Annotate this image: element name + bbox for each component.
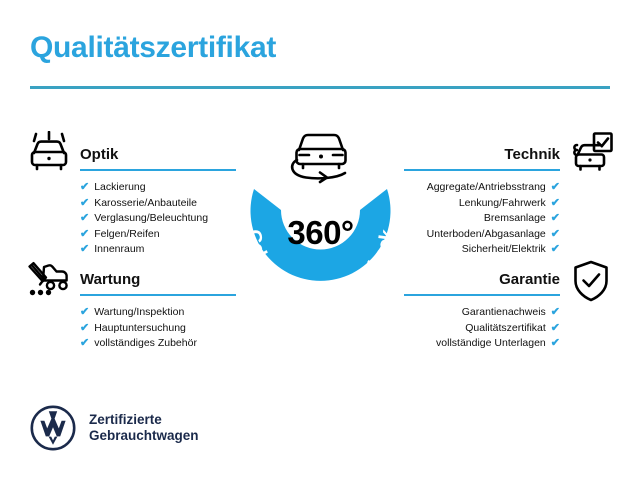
check-icon: ✔	[551, 196, 560, 212]
list-item-label: Garantienachweis	[462, 305, 546, 321]
list-item: ✔Karosserie/Anbauteile	[80, 196, 236, 212]
list-item-label: Karosserie/Anbauteile	[94, 196, 197, 212]
check-icon: ✔	[80, 336, 89, 352]
check-icon: ✔	[551, 227, 560, 243]
list-item: ✔vollständiges Zubehör	[80, 336, 236, 352]
list-item-label: Unterboden/Abgasanlage	[427, 227, 546, 243]
section-optik-header: Optik	[80, 145, 236, 171]
check-icon: ✔	[80, 211, 89, 227]
section-garantie-divider	[404, 294, 560, 296]
check-icon: ✔	[80, 180, 89, 196]
list-item-label: Bremsanlage	[484, 211, 546, 227]
list-item: Bremsanlage✔	[404, 211, 560, 227]
list-item-label: Hauptuntersuchung	[94, 321, 186, 337]
list-item: ✔Wartung/Inspektion	[80, 305, 236, 321]
list-item: ✔Felgen/Reifen	[80, 227, 236, 243]
list-item-label: Felgen/Reifen	[94, 227, 159, 243]
qualitaetszertifikat-page: Qualitätszertifikat Optik ✔Lackierung ✔K…	[0, 0, 640, 480]
footer-text: Zertifizierte Gebrauchtwagen	[89, 412, 199, 444]
list-item: Lenkung/Fahrwerk✔	[404, 196, 560, 212]
car-checkbox-icon	[568, 131, 614, 175]
gebrauchtwagen-check-badge: Gebrauchtwagen-Check 360°	[227, 128, 414, 323]
car-service-tool-icon	[26, 259, 72, 303]
list-item-label: vollständiges Zubehör	[94, 336, 197, 352]
section-technik: Technik Aggregate/Antriebsstrang✔ Lenkun…	[404, 145, 560, 258]
list-item-label: vollständige Unterlagen	[436, 336, 546, 352]
section-garantie-title: Garantie	[404, 270, 560, 290]
volkswagen-logo	[30, 405, 76, 451]
section-wartung: Wartung ✔Wartung/Inspektion ✔Hauptunters…	[80, 270, 236, 352]
list-item: ✔Lackierung	[80, 180, 236, 196]
list-item-label: Lackierung	[94, 180, 145, 196]
check-icon: ✔	[551, 321, 560, 337]
check-icon: ✔	[80, 227, 89, 243]
section-wartung-header: Wartung	[80, 270, 236, 296]
check-icon: ✔	[551, 242, 560, 258]
list-item: Sicherheit/Elektrik✔	[404, 242, 560, 258]
section-optik: Optik ✔Lackierung ✔Karosserie/Anbauteile…	[80, 145, 236, 258]
section-optik-title: Optik	[80, 145, 236, 165]
shield-check-icon	[571, 259, 611, 303]
list-item-label: Lenkung/Fahrwerk	[459, 196, 546, 212]
list-item: vollständige Unterlagen✔	[404, 336, 560, 352]
check-icon: ✔	[80, 321, 89, 337]
list-item: ✔Verglasung/Beleuchtung	[80, 211, 236, 227]
check-icon: ✔	[551, 336, 560, 352]
check-icon: ✔	[551, 211, 560, 227]
car-rotation-icon	[279, 128, 363, 184]
section-technik-list: Aggregate/Antriebsstrang✔ Lenkung/Fahrwe…	[404, 180, 560, 258]
check-icon: ✔	[551, 180, 560, 196]
section-garantie-header: Garantie	[404, 270, 560, 296]
section-technik-title: Technik	[404, 145, 560, 165]
section-wartung-list: ✔Wartung/Inspektion ✔Hauptuntersuchung ✔…	[80, 305, 236, 352]
section-technik-header: Technik	[404, 145, 560, 171]
badge-value: 360°	[227, 214, 414, 252]
check-icon: ✔	[80, 305, 89, 321]
section-wartung-divider	[80, 294, 236, 296]
list-item: ✔Hauptuntersuchung	[80, 321, 236, 337]
list-item-label: Sicherheit/Elektrik	[462, 242, 546, 258]
section-technik-divider	[404, 169, 560, 171]
check-icon: ✔	[80, 242, 89, 258]
list-item: Unterboden/Abgasanlage✔	[404, 227, 560, 243]
section-optik-list: ✔Lackierung ✔Karosserie/Anbauteile ✔Verg…	[80, 180, 236, 258]
page-title: Qualitätszertifikat	[30, 33, 276, 63]
list-item-label: Verglasung/Beleuchtung	[94, 211, 208, 227]
list-item-label: Wartung/Inspektion	[94, 305, 184, 321]
car-front-shine-icon	[26, 131, 72, 175]
check-icon: ✔	[551, 305, 560, 321]
list-item: ✔Innenraum	[80, 242, 236, 258]
list-item: Aggregate/Antriebsstrang✔	[404, 180, 560, 196]
section-wartung-title: Wartung	[80, 270, 236, 290]
section-garantie-list: Garantienachweis✔ Qualitätszertifikat✔ v…	[404, 305, 560, 352]
section-optik-divider	[80, 169, 236, 171]
list-item-label: Qualitätszertifikat	[465, 321, 546, 337]
title-divider	[30, 86, 610, 89]
list-item-label: Innenraum	[94, 242, 144, 258]
check-icon: ✔	[80, 196, 89, 212]
section-garantie: Garantie Garantienachweis✔ Qualitätszert…	[404, 270, 560, 352]
list-item-label: Aggregate/Antriebsstrang	[427, 180, 546, 196]
list-item: Qualitätszertifikat✔	[404, 321, 560, 337]
list-item: Garantienachweis✔	[404, 305, 560, 321]
volkswagen-logo-lockup: Zertifizierte Gebrauchtwagen	[30, 405, 199, 451]
